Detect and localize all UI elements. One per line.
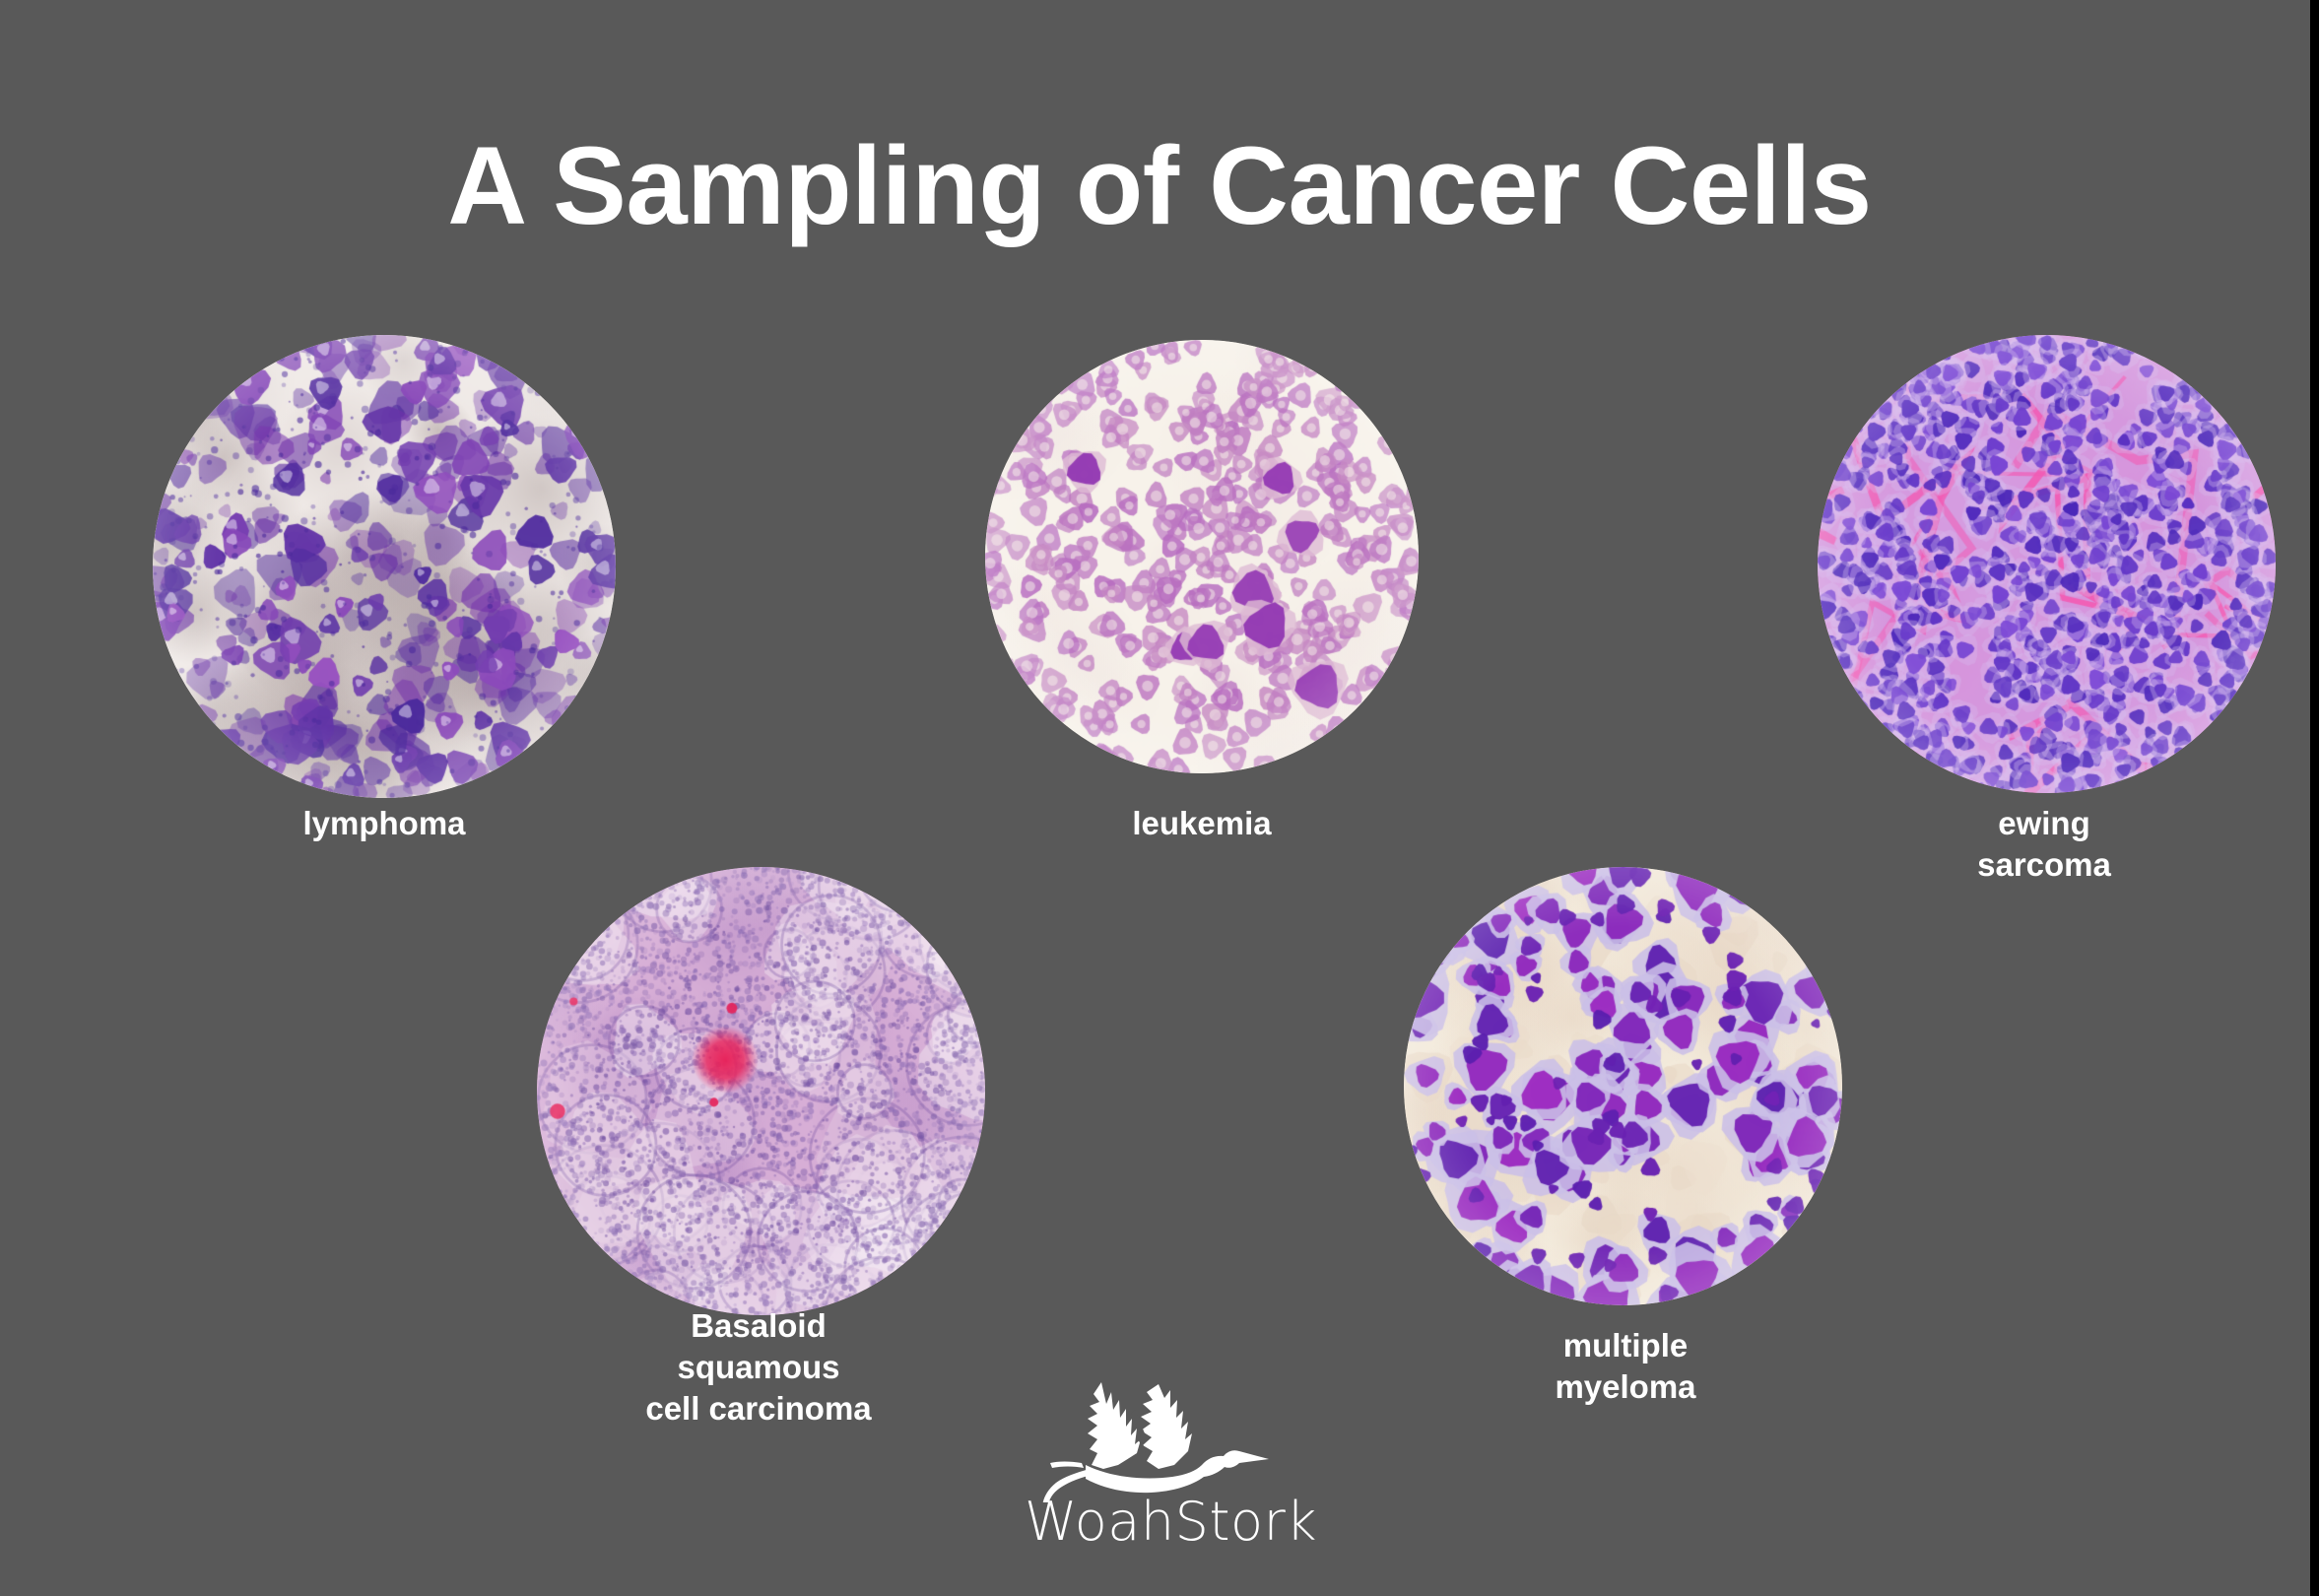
flying-stork-with-leaf-wings-icon <box>1025 1374 1310 1502</box>
woahstork-logo: WoahStork <box>1025 1374 1310 1566</box>
specimen-label-leukemia: leukemia <box>1132 803 1271 844</box>
specimen-label-ewing-sarcoma: ewing sarcoma <box>1929 803 2160 886</box>
specimen-lymphoma: lymphoma <box>153 335 616 798</box>
logo-wordmark: WoahStork <box>1025 1491 1310 1553</box>
specimen-leukemia: leukemia <box>985 340 1419 773</box>
specimen-ewing-sarcoma: ewing sarcoma <box>1818 335 2276 793</box>
right-edge-strip <box>2310 0 2319 1596</box>
specimen-label-multiple-myeloma: multiple myeloma <box>1517 1325 1734 1408</box>
micrograph-basaloid-squamous-cell-carcinoma <box>537 867 985 1315</box>
poster-canvas: A Sampling of Cancer Cells lymphoma leuk… <box>0 0 2319 1596</box>
micrograph-multiple-myeloma <box>1404 867 1842 1305</box>
page-title: A Sampling of Cancer Cells <box>0 125 2319 246</box>
specimen-basaloid-squamous-cell-carcinoma: Basaloid squamous cell carcinoma <box>537 867 985 1315</box>
specimen-label-lymphoma: lymphoma <box>302 803 465 844</box>
micrograph-leukemia <box>985 340 1419 773</box>
micrograph-lymphoma <box>153 335 616 798</box>
specimen-label-basaloid-squamous-cell-carcinoma: Basaloid squamous cell carcinoma <box>645 1305 872 1430</box>
specimen-multiple-myeloma: multiple myeloma <box>1404 867 1842 1305</box>
micrograph-ewing-sarcoma <box>1818 335 2276 793</box>
